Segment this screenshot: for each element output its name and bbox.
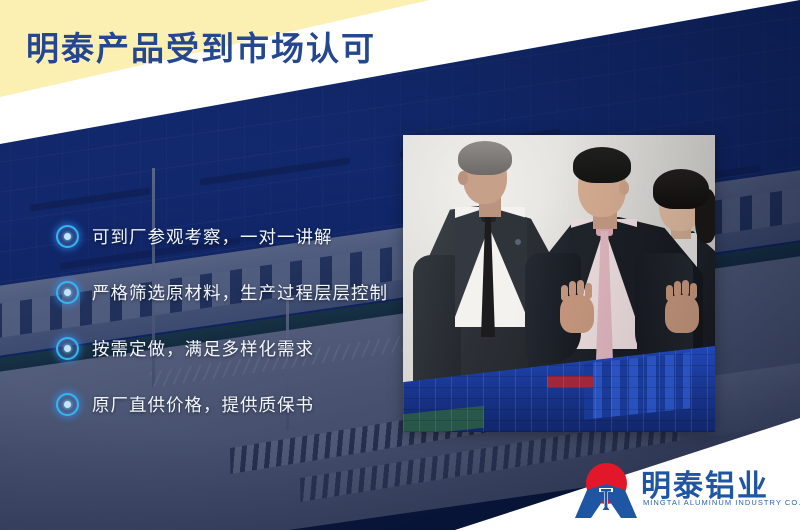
company-logo[interactable]: 明泰铝业 MINGTAI ALUMINUM INDUSTRY CO., LTD — [575, 462, 790, 520]
list-item: 严格筛选原材料，生产过程层层控制 — [56, 264, 396, 320]
list-item: 按需定做，满足多样化需求 — [56, 320, 396, 376]
logo-mountain-shape — [575, 484, 637, 518]
feature-label: 可到厂参观考察，一对一讲解 — [92, 224, 333, 249]
feature-label: 原厂直供价格，提供质保书 — [92, 392, 314, 417]
business-people-photo — [403, 135, 715, 432]
page-title: 明泰产品受到市场认可 — [26, 22, 376, 70]
target-ring-icon — [56, 225, 79, 248]
feature-label: 严格筛选原材料，生产过程层层控制 — [92, 280, 388, 305]
target-ring-icon — [56, 281, 79, 304]
logo-name-en: MINGTAI ALUMINUM INDUSTRY CO., LTD — [643, 498, 800, 507]
feature-label: 按需定做，满足多样化需求 — [92, 336, 314, 361]
target-ring-icon — [56, 337, 79, 360]
target-ring-icon — [56, 393, 79, 416]
list-item: 可到厂参观考察，一对一讲解 — [56, 208, 396, 264]
promo-banner: 明泰产品受到市场认可 可到厂参观考察，一对一讲解 严格筛选原材料，生产过程层层控… — [0, 0, 800, 530]
list-item: 原厂直供价格，提供质保书 — [56, 376, 396, 432]
feature-list: 可到厂参观考察，一对一讲解 严格筛选原材料，生产过程层层控制 按需定做，满足多样… — [56, 208, 396, 432]
mingtai-sun-mountain-logo-icon — [575, 462, 637, 518]
